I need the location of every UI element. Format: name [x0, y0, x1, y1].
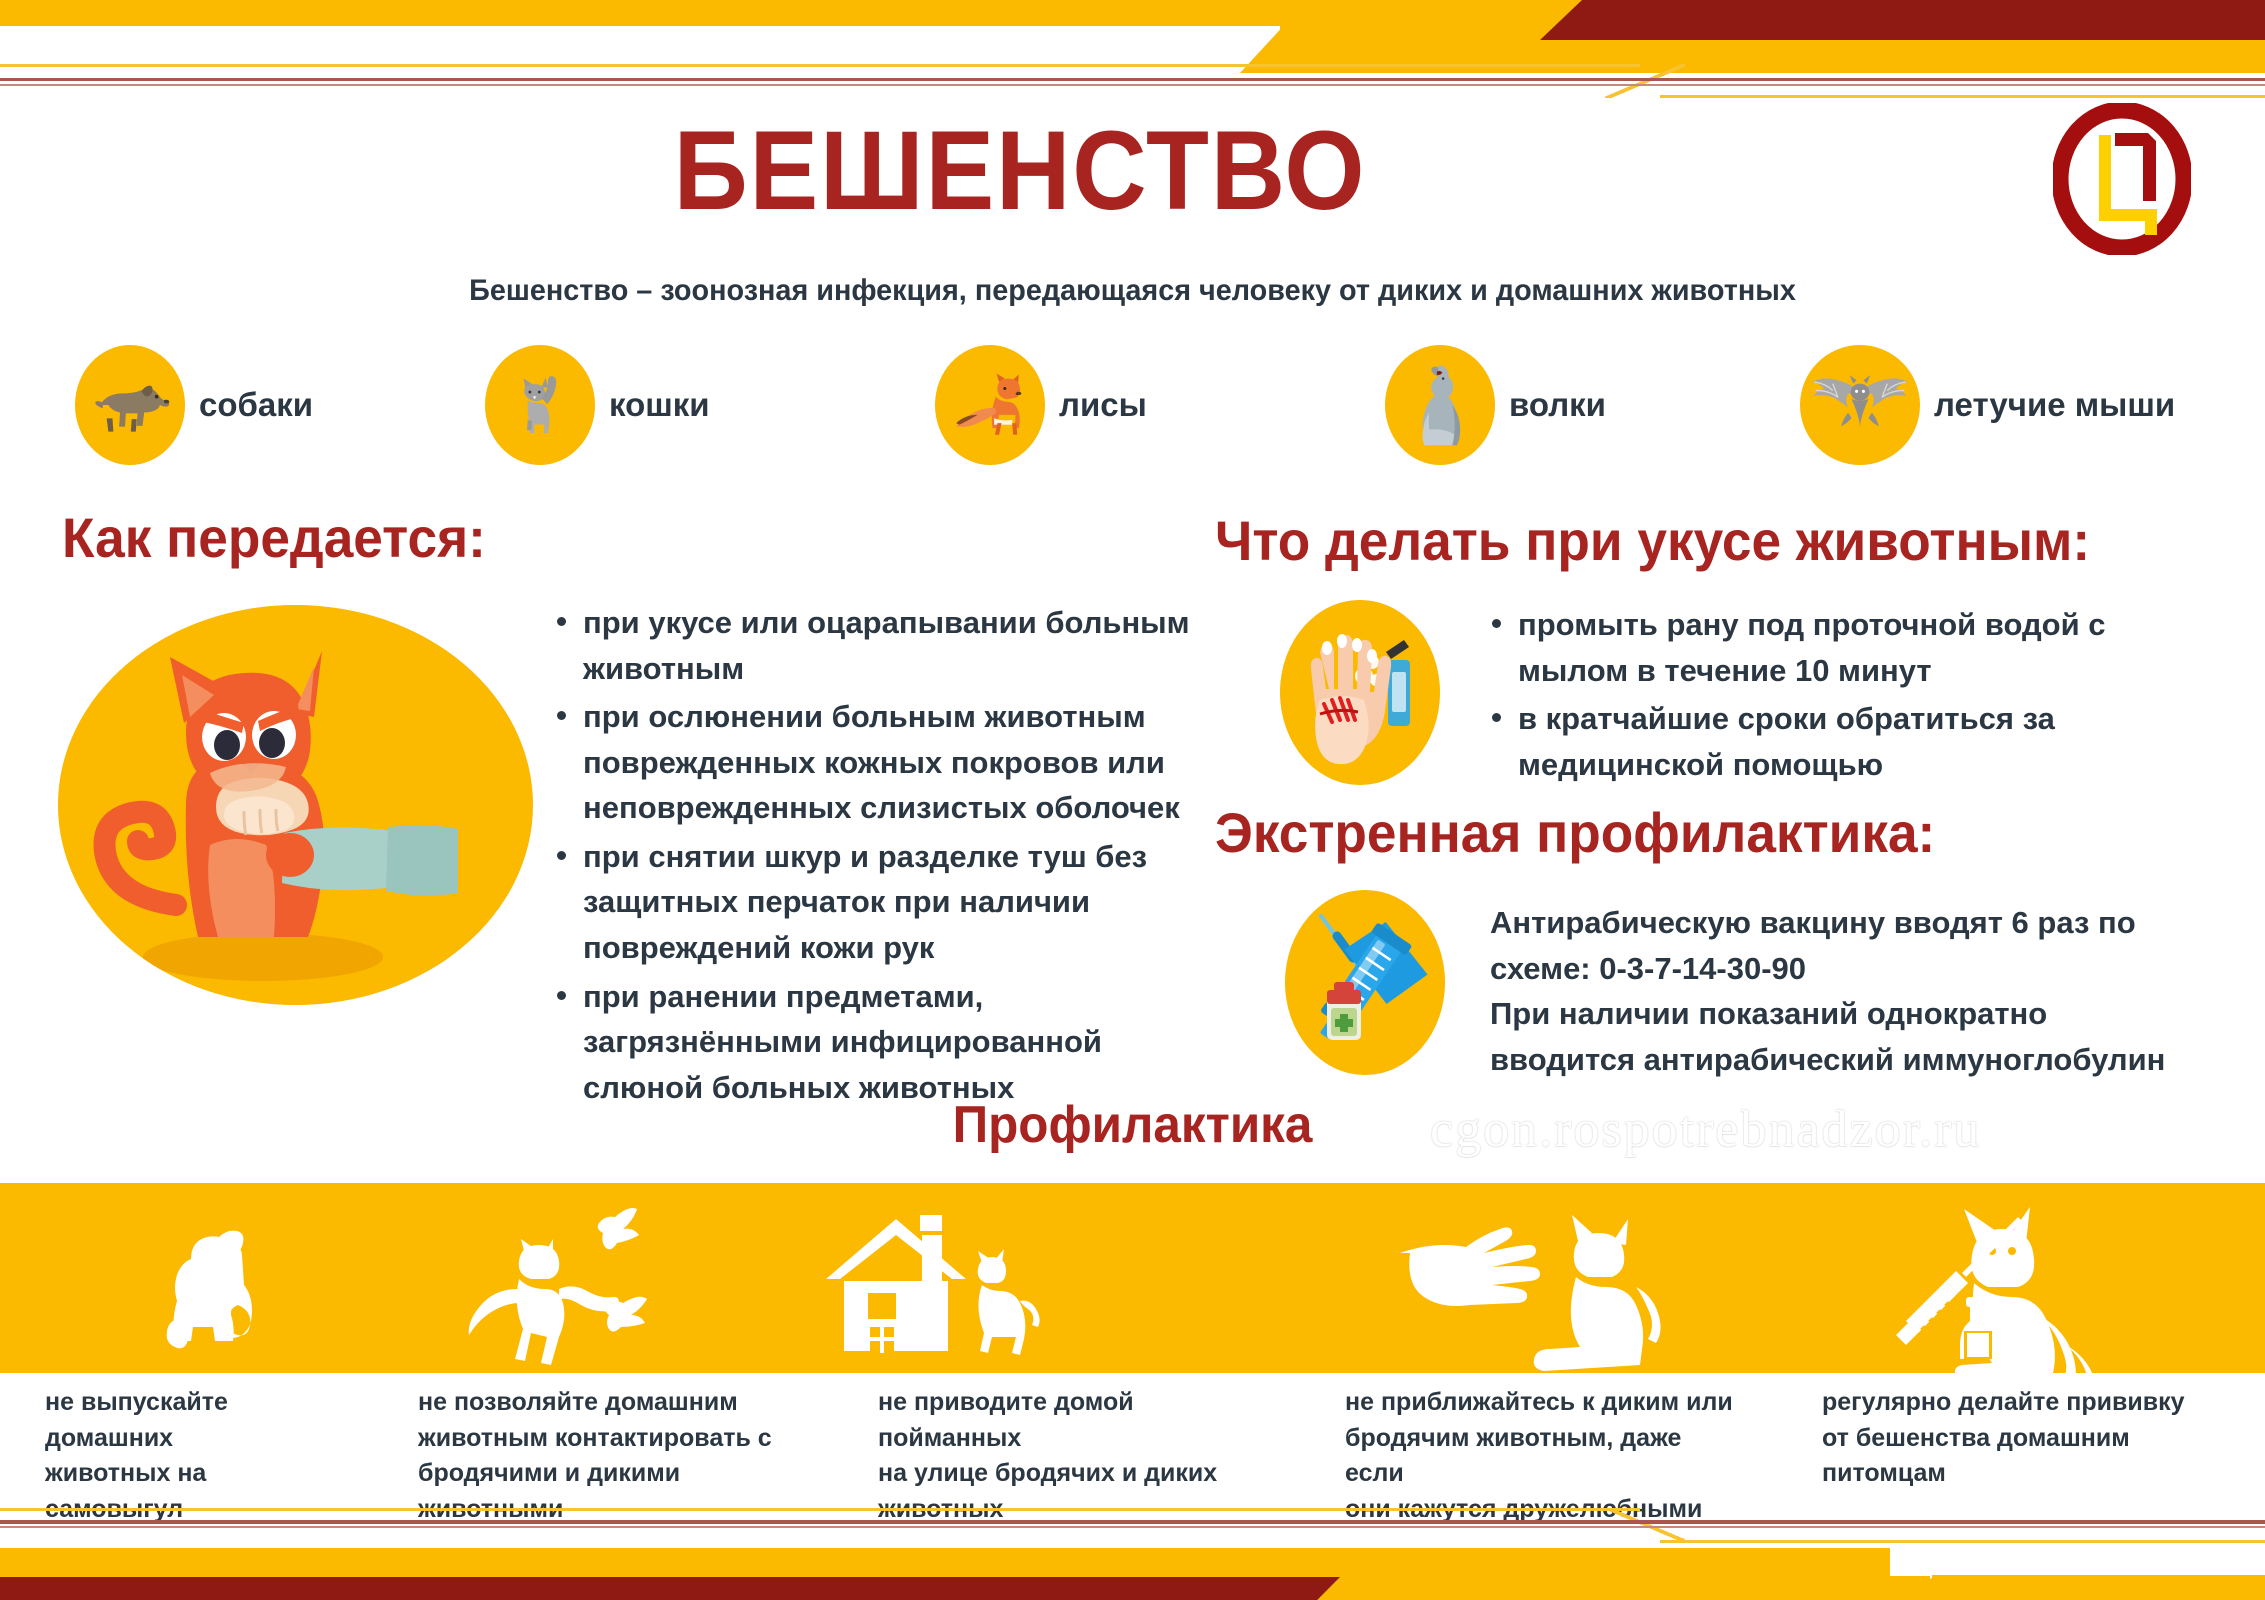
syringe-vial-cat-icon	[1820, 1183, 2220, 1373]
bottom-red-rule	[0, 1520, 2265, 1524]
caption-line: от бешенства домашним	[1822, 1421, 2222, 1457]
cat-icon	[485, 345, 595, 465]
caption-line: на улице бродячих и диких	[878, 1456, 1278, 1492]
dog-icon	[75, 345, 185, 465]
bottom-yellow-rule-right	[1660, 1540, 2265, 1543]
wolf-icon	[1385, 345, 1495, 465]
prevention-band	[0, 1183, 2265, 1373]
caption-line: регулярно делайте прививку	[1822, 1385, 2222, 1421]
top-dark-red-block	[1588, 0, 2265, 40]
caption-line: не позволяйте домашним	[418, 1385, 818, 1421]
list-item: при укусе или оцарапывании больным живот…	[583, 600, 1223, 691]
house-with-stray-dog-icon	[740, 1183, 1140, 1373]
bottom-yellow-rule	[0, 1508, 1640, 1511]
caption-line: не приближайтесь к диким или	[1345, 1385, 1745, 1421]
bottom-yellow-block-right	[1932, 1575, 2265, 1600]
watermark: cgon.rospotrebnadzor.ru	[1430, 1100, 1981, 1159]
bite-actions-heading: Что делать при укусе животным:	[1215, 508, 2090, 573]
fox-icon	[935, 345, 1045, 465]
caption-line: не приводите домой пойманных	[878, 1385, 1278, 1456]
emergency-line-3: При наличии показаний однократно	[1490, 991, 2190, 1037]
bite-actions-list: промыть рану под проточной водой с мылом…	[1480, 602, 2118, 790]
top-yellow-rule-right	[1660, 95, 2265, 98]
animal-item-fox: лисы	[935, 345, 1147, 465]
top-yellow-rule-diagonal	[1605, 64, 1685, 98]
caption-line: животным контактировать с	[418, 1421, 818, 1457]
angry-cat-biting-hand-icon	[58, 605, 533, 1005]
bottom-red-rule-thin	[0, 1526, 2265, 1528]
poster-root: БЕШЕНСТВО Бешенство – зоонозная инфекция…	[0, 0, 2265, 1600]
bat-icon	[1800, 345, 1920, 465]
prevention-caption-0: не выпускайте домашних животных на самов…	[45, 1385, 335, 1527]
list-item: промыть рану под проточной водой с мылом…	[1518, 602, 2118, 693]
prevention-captions: не выпускайте домашних животных на самов…	[0, 1385, 2265, 1495]
cgon-logo	[2053, 103, 2191, 255]
transmission-list: при укусе или оцарапывании больным живот…	[545, 600, 1223, 1113]
prevention-caption-1: не позволяйте домашним животным контакти…	[418, 1385, 818, 1527]
list-item: при ранении предметами, загрязнёнными ин…	[583, 974, 1223, 1111]
animal-item-dog: собаки	[75, 345, 313, 465]
transmission-heading: Как передается:	[62, 505, 486, 570]
top-yellow-rule	[0, 64, 1640, 67]
bottom-white-notch	[1890, 1548, 2265, 1576]
caption-line: бродячими и дикими животными	[418, 1456, 818, 1527]
prevention-caption-4: регулярно делайте прививку от бешенства …	[1822, 1385, 2222, 1492]
emergency-heading: Экстренная профилактика:	[1215, 800, 1935, 865]
animal-label-cat: кошки	[609, 386, 710, 424]
animal-label-dog: собаки	[199, 386, 313, 424]
prevention-caption-3: не приближайтесь к диким или бродячим жи…	[1345, 1385, 1745, 1527]
animal-label-fox: лисы	[1059, 386, 1147, 424]
syringe-vial-icon	[1285, 890, 1445, 1075]
animal-item-cat: кошки	[485, 345, 710, 465]
prevention-caption-2: не приводите домой пойманных на улице бр…	[878, 1385, 1278, 1527]
hand-reaching-dog-icon	[1320, 1183, 1720, 1373]
animal-item-bat: летучие мыши	[1800, 345, 2175, 465]
caption-line: бродячим животным, даже если	[1345, 1421, 1745, 1492]
wounded-hand-washing-icon	[1280, 600, 1440, 785]
animal-item-wolf: волки	[1385, 345, 1606, 465]
bottom-dark-red-block	[0, 1577, 1300, 1600]
list-item: при ослюнении больным животным поврежден…	[583, 694, 1223, 831]
caption-line: питомцам	[1822, 1456, 2222, 1492]
dog-with-leash-icon	[60, 1183, 390, 1373]
page-title: БЕШЕНСТВО	[82, 115, 1959, 227]
animal-label-wolf: волки	[1509, 386, 1606, 424]
list-item: в кратчайшие сроки обратиться за медицин…	[1518, 696, 2118, 787]
emergency-line-2: схеме: 0-3-7-14-30-90	[1490, 946, 2190, 992]
emergency-line-1: Антирабическую вакцину вводят 6 раз по	[1490, 900, 2190, 946]
bottom-yellow-rule-diagonal	[1605, 1508, 1685, 1542]
caption-line: не выпускайте домашних	[45, 1385, 335, 1456]
list-item: при снятии шкур и разделке туш без защит…	[583, 834, 1223, 971]
page-subtitle: Бешенство – зоонозная инфекция, передающ…	[45, 274, 2219, 308]
top-red-rule	[0, 78, 2265, 81]
emergency-line-4: вводится антирабический иммуноглобулин	[1490, 1037, 2190, 1083]
caption-line: животных на самовыгул	[45, 1456, 335, 1527]
cat-chasing-bats-icon	[400, 1183, 730, 1373]
animal-label-bat: летучие мыши	[1934, 386, 2175, 424]
top-yellow-bar	[0, 0, 1280, 26]
animal-list: собаки кошки	[0, 340, 2265, 480]
bottom-yellow-block-mid	[1290, 1548, 1930, 1600]
top-red-rule-thin	[0, 84, 2265, 86]
emergency-text: Антирабическую вакцину вводят 6 раз по с…	[1490, 900, 2190, 1082]
